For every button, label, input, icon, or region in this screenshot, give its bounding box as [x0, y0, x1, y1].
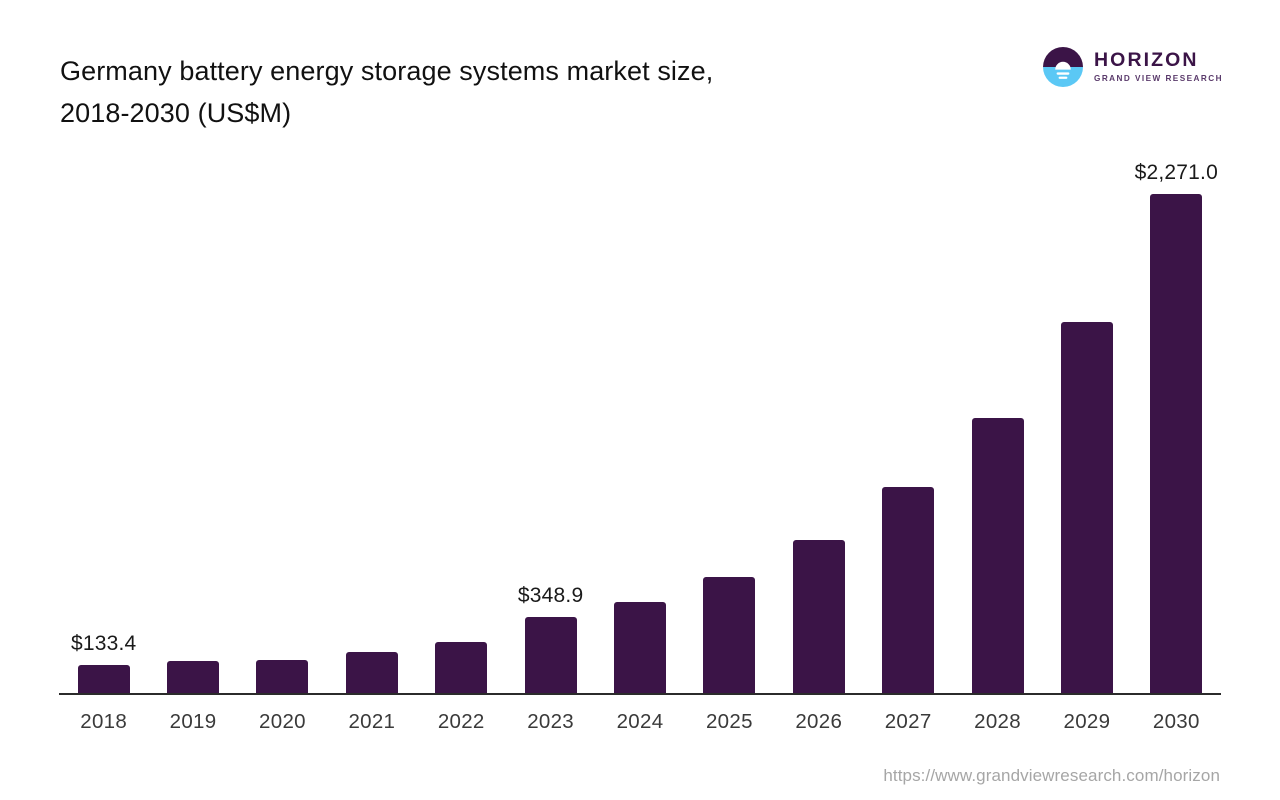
x-axis-category-label: 2018 [80, 710, 127, 734]
x-axis-category-label: 2022 [438, 710, 485, 734]
bar-group: 2029 [1061, 322, 1113, 694]
bar[interactable] [703, 577, 755, 694]
bar[interactable] [614, 602, 666, 694]
x-axis-category-label: 2021 [348, 710, 395, 734]
bar[interactable] [435, 642, 487, 694]
bar[interactable] [346, 652, 398, 694]
bar-group: $133.42018 [78, 665, 130, 694]
x-axis-category-label: 2025 [706, 710, 753, 734]
bar[interactable] [167, 661, 219, 694]
source-url: https://www.grandviewresearch.com/horizo… [883, 766, 1220, 786]
x-axis-category-label: 2027 [885, 710, 932, 734]
bar-group: $348.92023 [525, 617, 577, 694]
bar[interactable] [78, 665, 130, 694]
bar-group: 2026 [793, 540, 845, 694]
bar[interactable] [1061, 322, 1113, 694]
bar-value-label: $133.4 [71, 632, 136, 656]
x-axis-category-label: 2024 [617, 710, 664, 734]
bar-value-label: $348.9 [518, 584, 583, 608]
bar-group: 2022 [435, 642, 487, 694]
x-axis-category-label: 2020 [259, 710, 306, 734]
bar[interactable] [1150, 194, 1202, 694]
bar-value-label: $2,271.0 [1135, 161, 1218, 185]
x-axis-category-label: 2023 [527, 710, 574, 734]
x-axis-category-label: 2019 [170, 710, 217, 734]
bar[interactable] [882, 487, 934, 694]
bar[interactable] [793, 540, 845, 694]
x-axis-category-label: 2029 [1064, 710, 1111, 734]
bar-group: $2,271.02030 [1150, 194, 1202, 694]
bar-chart-plot-area: $133.420182019202020212022$348.920232024… [0, 0, 1280, 800]
bar-group: 2028 [972, 418, 1024, 694]
bar-group: 2025 [703, 577, 755, 694]
bar-group: 2027 [882, 487, 934, 694]
x-axis-line [59, 693, 1221, 695]
bar[interactable] [972, 418, 1024, 694]
bar[interactable] [525, 617, 577, 694]
x-axis-category-label: 2026 [795, 710, 842, 734]
x-axis-category-label: 2030 [1153, 710, 1200, 734]
x-axis-category-label: 2028 [974, 710, 1021, 734]
bar-group: 2019 [167, 661, 219, 694]
bar[interactable] [256, 660, 308, 694]
bar-group: 2020 [256, 660, 308, 694]
bar-group: 2021 [346, 652, 398, 694]
bar-group: 2024 [614, 602, 666, 694]
